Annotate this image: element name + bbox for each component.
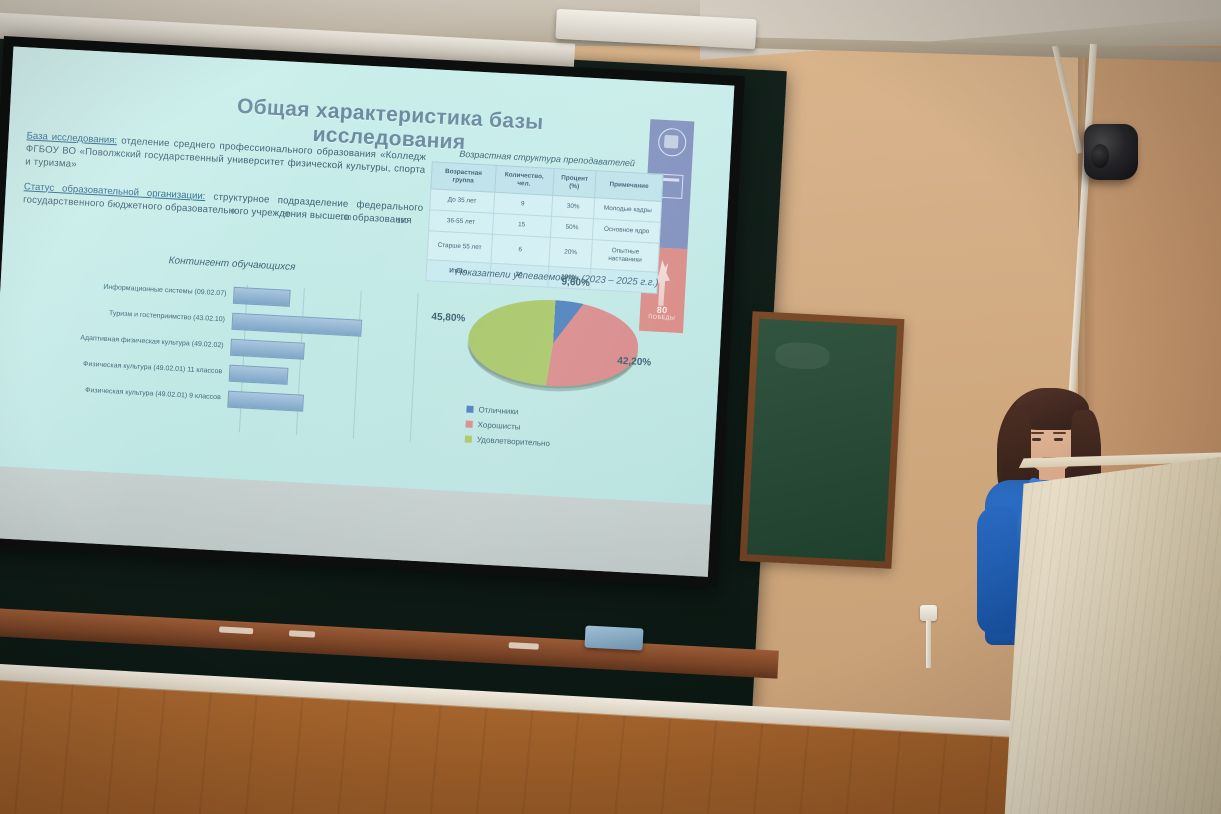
legend-swatch-red — [466, 421, 473, 428]
eyebrow-left — [1031, 432, 1044, 434]
bar-label: Адаптивная физическая культура (49.02.02… — [18, 331, 231, 351]
eye-right — [1054, 438, 1063, 441]
th-percent: Процент (%) — [552, 168, 596, 197]
bar-value — [230, 339, 305, 360]
chalk-stick — [289, 630, 315, 637]
bar-label: Туризм и гостеприимство (43.02.10) — [19, 305, 232, 325]
podium-wood-grain — [1000, 455, 1221, 814]
victory-text: ПОБЕДЫ — [648, 314, 675, 321]
cell-note: Опытные наставники — [591, 240, 659, 273]
presentation-slide: Общая характеристика базы исследования Б… — [0, 47, 734, 505]
camera-lens-icon — [1091, 144, 1109, 168]
bar-track — [227, 388, 400, 419]
university-emblem-icon — [657, 128, 686, 157]
cell-percent: 30% — [551, 195, 595, 218]
cell-age-group: Старше 55 лет — [427, 231, 492, 263]
bar-value — [229, 365, 289, 385]
board-smudge — [775, 341, 830, 370]
xtick-50: 50 — [283, 211, 291, 218]
th-age-group: Возрастная группа — [431, 162, 496, 192]
bar-chart-title: Контингент обучающихся — [82, 251, 382, 278]
xtick-0: 0 — [231, 209, 235, 216]
board-eraser — [584, 625, 643, 650]
bar-value — [227, 391, 304, 412]
bar-label: Информационные системы (09.02.07) — [20, 279, 233, 299]
chalk-stick — [219, 626, 253, 634]
bar-chart: Информационные системы (09.02.07) Туризм… — [13, 272, 411, 448]
gridline-150 — [410, 294, 419, 442]
green-board-surface — [747, 319, 897, 562]
eyebrow-right — [1053, 432, 1066, 434]
th-note: Примечание — [595, 171, 663, 202]
bar-label: Физическая культура (49.02.01) 9 классов — [15, 383, 228, 403]
eye-left — [1032, 438, 1041, 441]
projection-screen: Общая характеристика базы исследования Б… — [0, 36, 745, 587]
cell-count: 6 — [491, 234, 550, 266]
pie-chart — [465, 290, 641, 407]
lecture-hall-scene: Общая характеристика базы исследования Б… — [0, 0, 1221, 814]
arm-left — [977, 506, 1017, 634]
th-count: Количество, чел. — [494, 165, 553, 195]
security-camera-icon — [1084, 124, 1138, 180]
wall-outlet — [920, 605, 937, 621]
legend-label-satisfactory: Удовлетворительно — [476, 432, 550, 451]
pie-label-excellent: 9,60% — [561, 277, 590, 290]
bar-label: Физическая культура (49.02.01) 11 классо… — [16, 357, 229, 377]
pie-label-good: 42,20% — [617, 356, 651, 369]
bar-value — [233, 287, 291, 307]
chalk-stick — [509, 642, 539, 650]
xtick-100: 100 — [339, 214, 351, 222]
screen-surface: Общая характеристика базы исследования Б… — [0, 47, 734, 577]
legend-item-satisfactory: Удовлетворительно — [464, 432, 550, 452]
bar-value — [231, 313, 362, 337]
green-board — [740, 311, 905, 569]
cell-percent: 20% — [548, 237, 592, 268]
wall-pipe — [926, 620, 931, 668]
victory-badge: 80 ПОБЕДЫ — [642, 305, 683, 322]
pie-label-satisfactory: 45,80% — [431, 312, 465, 325]
legend-swatch-blue — [466, 406, 473, 413]
xtick-150: 150 — [396, 218, 408, 226]
pie-legend: Отличники Хорошисты Удовлетворительно — [464, 402, 551, 452]
cell-percent: 50% — [550, 216, 594, 239]
legend-swatch-green — [465, 436, 472, 443]
podium — [1000, 455, 1221, 814]
